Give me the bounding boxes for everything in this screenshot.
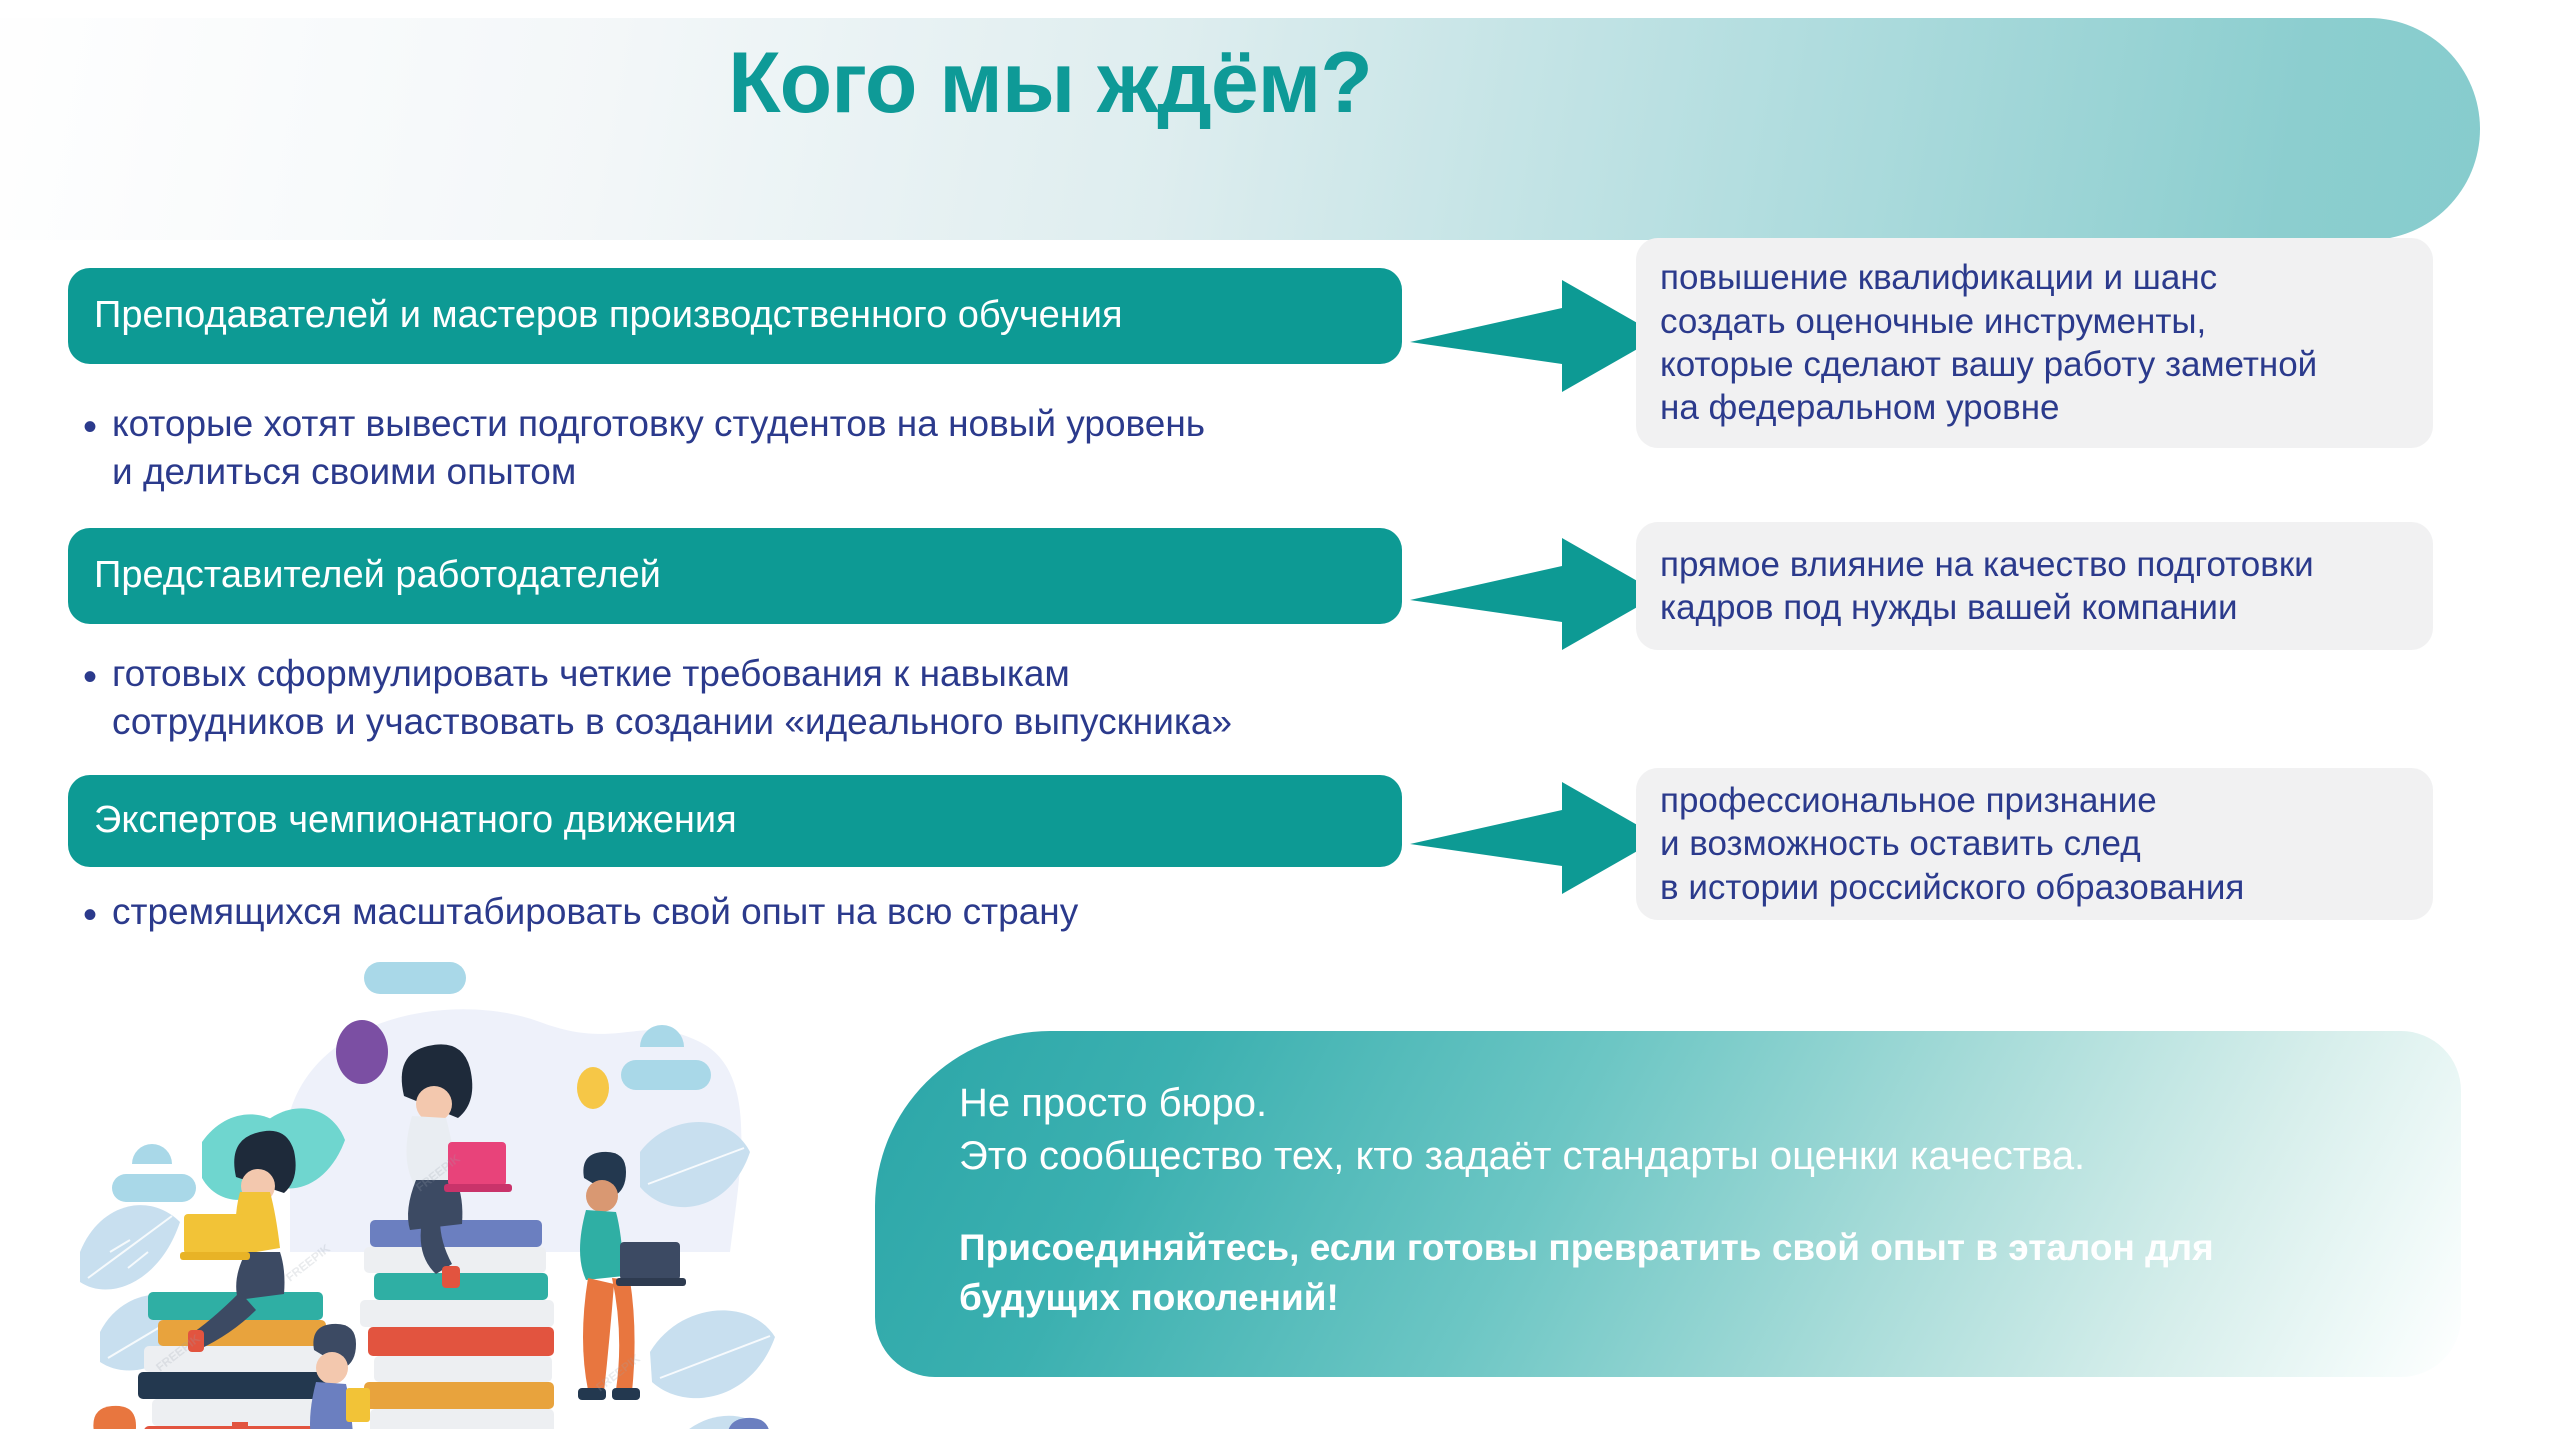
audience-bullet-1: • которые хотят вывести подготовку студе… xyxy=(68,400,1408,496)
callout-line-2: Это сообщество тех, кто задаёт стандарты… xyxy=(959,1130,2391,1183)
arrow-right-icon xyxy=(1410,538,1660,650)
audience-bullet-2-text: готовых сформулировать четкие требования… xyxy=(112,650,1232,746)
audience-bar-2-label: Представителей работодателей xyxy=(94,555,661,597)
arrow-right-icon xyxy=(1410,782,1660,894)
community-callout: Не просто бюро. Это сообщество тех, кто … xyxy=(875,1031,2461,1377)
benefit-panel-3-text: профессиональное признание и возможность… xyxy=(1660,779,2244,909)
benefit-panel-1: повышение квалификации и шанс создать оц… xyxy=(1636,238,2433,448)
bullet-marker: • xyxy=(68,650,112,703)
page-title: Кого мы ждём? xyxy=(0,34,2100,133)
students-on-book-stacks-illustration: FREEPIK FREEPIK FREEPIK FREEPIK FREEPIK … xyxy=(40,952,870,1429)
audience-bar-1-label: Преподавателей и мастеров производственн… xyxy=(94,295,1123,337)
benefit-panel-2: прямое влияние на качество подготовки ка… xyxy=(1636,522,2433,650)
audience-bullet-3: • стремящихся масштабировать свой опыт н… xyxy=(68,888,1408,941)
audience-bar-2[interactable]: Представителей работодателей xyxy=(68,528,1402,624)
slide-root: Кого мы ждём? Преподавателей и мастеров … xyxy=(0,0,2550,1429)
audience-bar-1[interactable]: Преподавателей и мастеров производственн… xyxy=(68,268,1402,364)
audience-bullet-2: • готовых сформулировать четкие требован… xyxy=(68,650,1468,746)
callout-line-1: Не просто бюро. xyxy=(959,1077,2391,1130)
audience-bullet-3-text: стремящихся масштабировать свой опыт на … xyxy=(112,888,1078,936)
arrow-right-icon xyxy=(1410,280,1660,392)
callout-emphasis: Присоединяйтесь, если готовы превратить … xyxy=(959,1223,2391,1321)
benefit-panel-3: профессиональное признание и возможность… xyxy=(1636,768,2433,920)
audience-bar-3[interactable]: Экспертов чемпионатного движения xyxy=(68,775,1402,867)
audience-bullet-1-text: которые хотят вывести подготовку студент… xyxy=(112,400,1205,496)
bullet-marker: • xyxy=(68,888,112,941)
benefit-panel-2-text: прямое влияние на качество подготовки ка… xyxy=(1660,543,2314,630)
benefit-panel-1-text: повышение квалификации и шанс создать оц… xyxy=(1660,256,2317,430)
bullet-marker: • xyxy=(68,400,112,453)
audience-bar-3-label: Экспертов чемпионатного движения xyxy=(94,800,737,842)
